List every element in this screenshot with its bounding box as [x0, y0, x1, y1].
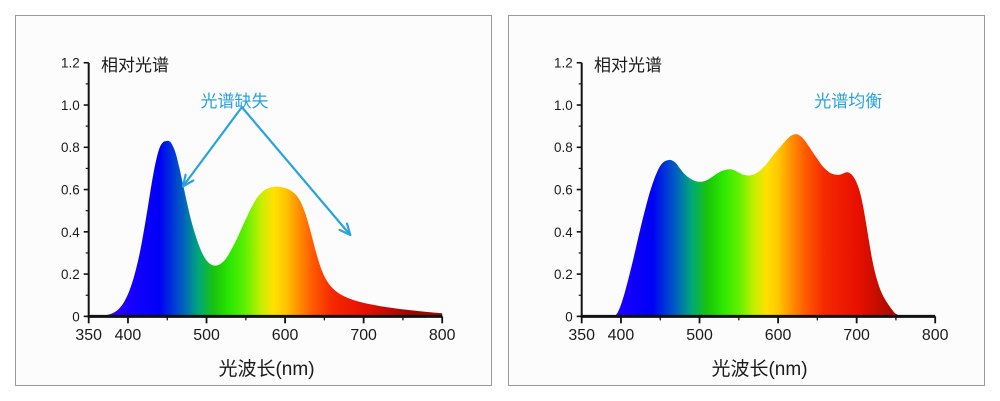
svg-text:0.4: 0.4 — [554, 225, 573, 240]
svg-text:0.4: 0.4 — [61, 225, 80, 240]
svg-text:0.8: 0.8 — [554, 140, 573, 155]
svg-text:350: 350 — [568, 327, 595, 344]
svg-text:800: 800 — [922, 327, 949, 344]
svg-text:0.2: 0.2 — [61, 267, 80, 282]
svg-text:0.8: 0.8 — [61, 140, 80, 155]
x-axis-label-right: 光波长(nm) — [582, 354, 937, 381]
panel-spectrum-deficient: 00.20.40.60.81.01.2350400500600700800 相对… — [15, 15, 492, 386]
svg-text:0.6: 0.6 — [61, 183, 80, 198]
svg-text:1.0: 1.0 — [554, 98, 573, 113]
svg-text:1.2: 1.2 — [554, 56, 573, 71]
svg-text:0: 0 — [72, 309, 79, 324]
plot-area-deficient: 00.20.40.60.81.01.2350400500600700800 — [16, 16, 491, 385]
panel-spectrum-balanced: 00.20.40.60.81.01.2350400500600700800 相对… — [508, 15, 985, 386]
x-axis-label-left: 光波长(nm) — [89, 354, 444, 381]
svg-text:700: 700 — [350, 327, 377, 344]
svg-text:1.2: 1.2 — [61, 56, 80, 71]
svg-text:600: 600 — [272, 327, 299, 344]
svg-text:600: 600 — [765, 327, 792, 344]
svg-text:700: 700 — [843, 327, 870, 344]
svg-text:800: 800 — [429, 327, 456, 344]
svg-text:0.6: 0.6 — [554, 183, 573, 198]
svg-text:400: 400 — [115, 327, 142, 344]
svg-text:400: 400 — [608, 327, 635, 344]
svg-text:500: 500 — [686, 327, 713, 344]
chart-title-left: 相对光谱 — [101, 51, 169, 76]
chart-title-right: 相对光谱 — [594, 51, 662, 76]
annotation-spectrum-balanced: 光谱均衡 — [814, 87, 882, 112]
plot-area-balanced: 00.20.40.60.81.01.2350400500600700800 — [509, 16, 984, 385]
svg-text:0: 0 — [565, 309, 572, 324]
svg-text:1.0: 1.0 — [61, 98, 80, 113]
spectrum-comparison-figure: 00.20.40.60.81.01.2350400500600700800 相对… — [0, 0, 1000, 401]
annotation-spectrum-missing: 光谱缺失 — [201, 87, 269, 112]
svg-text:350: 350 — [75, 327, 102, 344]
svg-text:0.2: 0.2 — [554, 267, 573, 282]
svg-text:500: 500 — [193, 327, 220, 344]
